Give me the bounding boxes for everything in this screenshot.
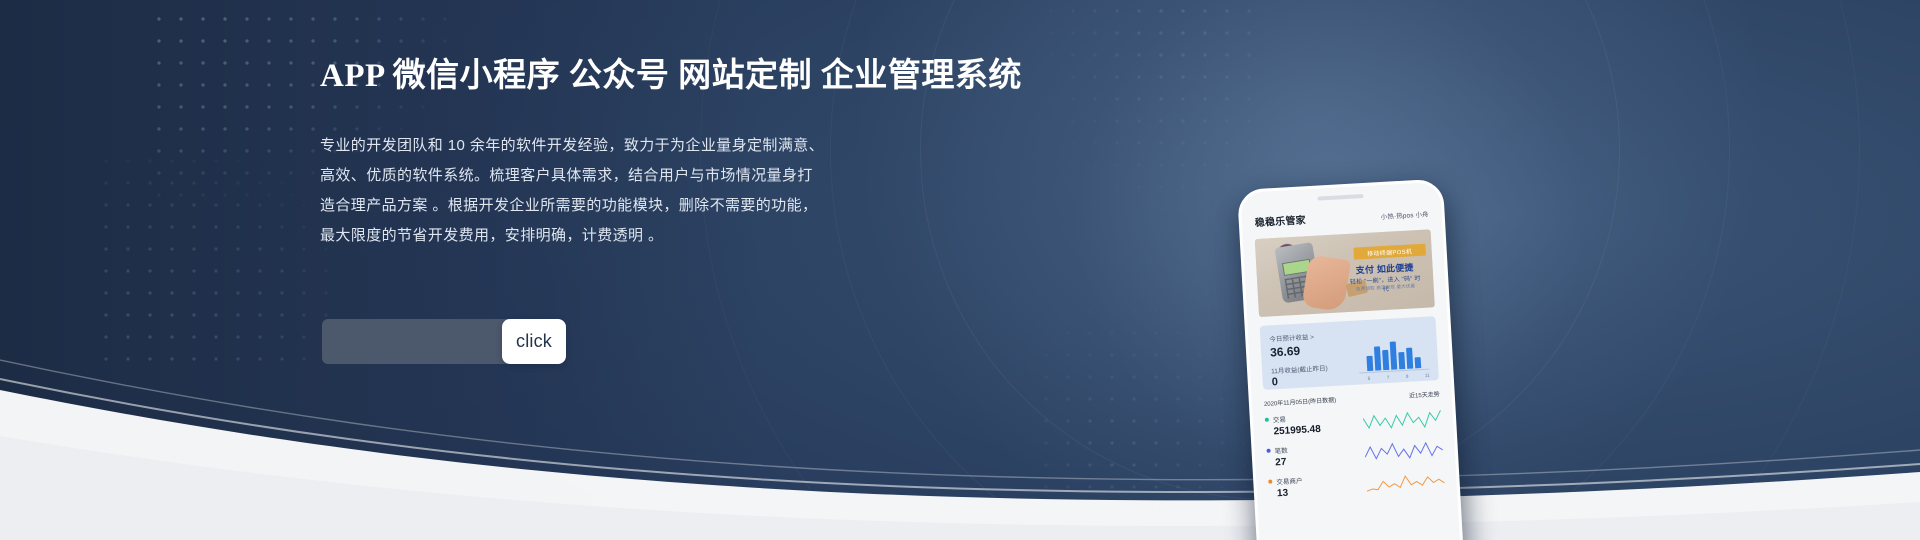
phone-mockup: 稳稳乐管家 小热·热pos 小舟 移动终端POS机 支付 如此便捷 轻松 "一刷…	[1237, 179, 1465, 540]
status-dot-icon	[1268, 480, 1272, 484]
chart-bar	[1374, 346, 1381, 370]
stat-name: 交易商户	[1268, 475, 1303, 487]
chart-tick: 7	[1387, 375, 1390, 380]
stats-list: 交易251995.48笔数27交易商户13	[1253, 404, 1457, 501]
stat-value: 13	[1277, 487, 1304, 499]
sparkline-chart	[1366, 467, 1445, 495]
paragraph-line: 造合理产品方案 。根据开发企业所需要的功能模块，删除不需要的功能，	[320, 191, 960, 221]
cta-input[interactable]	[322, 319, 508, 364]
stat-value: 251995.48	[1273, 424, 1321, 438]
stat-row[interactable]: 交易251995.48	[1265, 405, 1442, 439]
stat-label: 交易	[1273, 414, 1287, 425]
click-button[interactable]: click	[502, 319, 566, 364]
paragraph-line: 专业的开发团队和 10 余年的软件开发经验，致力于为企业量身定制满意、	[320, 131, 960, 161]
stat-label: 交易商户	[1276, 475, 1303, 486]
chart-bar	[1398, 352, 1405, 369]
chart-bar	[1390, 341, 1398, 369]
hero-copy: APP 微信小程序 公众号 网站定制 企业管理系统 专业的开发团队和 10 余年…	[320, 56, 960, 251]
paragraph-line: 最大限度的节省开发费用，安排明确，计费透明 。	[320, 221, 960, 251]
paragraph-line: 高效、优质的软件系统。梳理客户具体需求，结合用户与市场情况量身打	[320, 161, 960, 191]
trend-label: 近15天走势	[1409, 389, 1440, 400]
data-date-label: 2020年11月05日(昨日数据)	[1264, 395, 1337, 408]
stat-row[interactable]: 交易商户13	[1268, 467, 1445, 501]
stat-name: 笔数	[1266, 445, 1288, 456]
hero-paragraph: 专业的开发团队和 10 余年的软件开发经验，致力于为企业量身定制满意、 高效、优…	[320, 131, 960, 251]
sparkline-chart	[1364, 436, 1443, 464]
stats-meta-row: 2020年11月05日(昨日数据) 近15天走势	[1264, 389, 1440, 408]
stat-label: 笔数	[1274, 445, 1288, 456]
earnings-bar-chart	[1366, 338, 1430, 371]
chart-bar	[1406, 348, 1413, 369]
stat-value: 27	[1275, 457, 1289, 469]
app-title: 稳稳乐管家	[1254, 211, 1306, 229]
page-title: APP 微信小程序 公众号 网站定制 企业管理系统	[320, 56, 960, 97]
chart-tick: 11	[1425, 373, 1430, 378]
app-account: 小热·热pos 小舟	[1380, 208, 1428, 221]
chart-tick: 5	[1368, 376, 1371, 381]
stat-name: 交易	[1265, 412, 1321, 425]
chart-bar	[1382, 350, 1389, 370]
cta-group: click	[322, 319, 566, 364]
earnings-card[interactable]: 今日预计收益 > 36.69 11月收益(截止昨日) 0 57911	[1260, 316, 1439, 390]
sparkline-chart	[1362, 405, 1441, 433]
chart-bar	[1415, 357, 1422, 368]
hero-banner: APP 微信小程序 公众号 网站定制 企业管理系统 专业的开发团队和 10 余年…	[0, 0, 1920, 540]
status-dot-icon	[1265, 418, 1269, 422]
promo-banner[interactable]: 移动终端POS机 支付 如此便捷 轻松 "一刷"，进入 "码" 时代 免费领取 …	[1255, 229, 1435, 317]
dot-pattern	[1040, 0, 1270, 210]
status-dot-icon	[1266, 449, 1270, 453]
stat-row[interactable]: 笔数27	[1266, 436, 1443, 470]
chart-bar	[1366, 356, 1373, 371]
chart-tick: 9	[1406, 374, 1409, 379]
phone-screen: 稳稳乐管家 小热·热pos 小舟 移动终端POS机 支付 如此便捷 轻松 "一刷…	[1237, 179, 1465, 540]
bottom-curve-decoration	[0, 240, 1920, 540]
